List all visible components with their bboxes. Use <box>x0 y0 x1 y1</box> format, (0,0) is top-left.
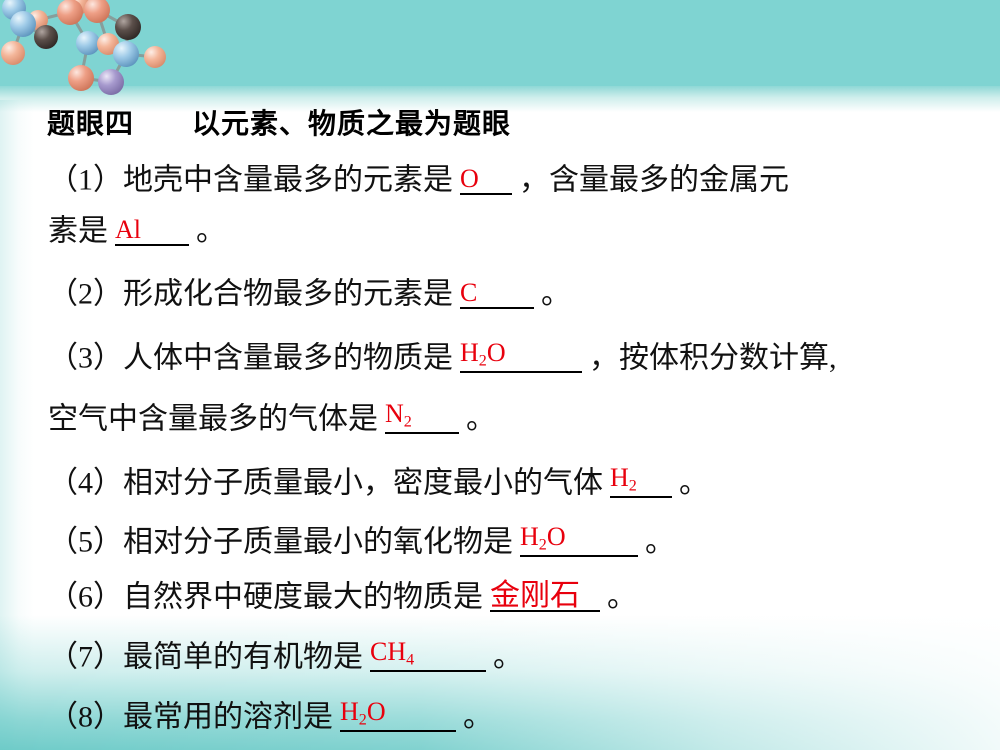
question-text: ，含量最多的金属元 <box>519 164 789 197</box>
question-text: 素是 <box>48 215 108 248</box>
question-text: 。 <box>463 701 493 734</box>
question-text: （2）形成化合物最多的元素是 <box>48 278 453 311</box>
answer-blank[interactable]: O <box>460 163 512 196</box>
question-line: （2）形成化合物最多的元素是C。 <box>48 277 571 310</box>
answer-value: Al <box>115 217 141 243</box>
question-line: （5）相对分子质量最小的氧化物是H2O。 <box>48 525 675 558</box>
answer-value: O <box>460 166 479 192</box>
answer-blank[interactable]: Al <box>115 214 189 247</box>
question-text: （7）最简单的有机物是 <box>48 641 363 674</box>
answer-blank[interactable]: H2 <box>610 466 672 499</box>
question-line: （3）人体中含量最多的物质是H2O，按体积分数计算, <box>48 341 837 374</box>
answer-blank[interactable]: H2O <box>460 341 582 374</box>
question-text: （6）自然界中硬度最大的物质是 <box>48 581 483 614</box>
slide-canvas: 题眼四 以元素、物质之最为题眼 （1）地壳中含量最多的元素是O，含量最多的金属元… <box>0 0 1000 750</box>
question-text: （8）最常用的溶剂是 <box>48 701 333 734</box>
question-text: （4）相对分子质量最小，密度最小的气体 <box>48 467 603 500</box>
question-text: 。 <box>196 215 226 248</box>
question-line: （8）最常用的溶剂是H2O。 <box>48 700 493 733</box>
answer-blank[interactable]: CH4 <box>370 640 486 673</box>
question-text: （3）人体中含量最多的物质是 <box>48 342 453 375</box>
question-text: 。 <box>493 641 523 674</box>
question-text: （1）地壳中含量最多的元素是 <box>48 164 453 197</box>
question-line: （4）相对分子质量最小，密度最小的气体H2。 <box>48 466 709 499</box>
question-line: 素是Al。 <box>48 214 226 247</box>
question-text: 。 <box>645 526 675 559</box>
answer-value: C <box>460 280 477 306</box>
answer-value: N2 <box>385 401 412 431</box>
answer-value: H2O <box>460 340 506 370</box>
question-text: 。 <box>679 467 709 500</box>
answer-value: CH4 <box>370 639 414 669</box>
question-line: 空气中含量最多的气体是N2。 <box>48 402 496 435</box>
question-text: ，按体积分数计算, <box>589 342 837 375</box>
answer-value: 金刚石 <box>490 581 580 611</box>
question-text: 。 <box>607 581 637 614</box>
page-title: 题眼四 以元素、物质之最为题眼 <box>47 102 511 142</box>
answer-blank[interactable]: N2 <box>385 402 459 435</box>
answer-blank[interactable]: C <box>460 277 534 310</box>
answer-value: H2O <box>520 524 566 554</box>
slide-content: 题眼四 以元素、物质之最为题眼 （1）地壳中含量最多的元素是O，含量最多的金属元… <box>0 0 1000 750</box>
question-line: （7）最简单的有机物是CH4。 <box>48 640 523 673</box>
answer-blank[interactable]: H2O <box>520 525 638 558</box>
question-text: （5）相对分子质量最小的氧化物是 <box>48 526 513 559</box>
answer-value: H2O <box>340 699 386 729</box>
answer-value: H2 <box>610 465 637 495</box>
answer-blank[interactable]: H2O <box>340 700 456 733</box>
question-text: 。 <box>466 403 496 436</box>
question-line: （6）自然界中硬度最大的物质是金刚石。 <box>48 580 637 613</box>
answer-blank[interactable]: 金刚石 <box>490 580 600 613</box>
question-text: 。 <box>541 278 571 311</box>
question-text: 空气中含量最多的气体是 <box>48 403 378 436</box>
question-line: （1）地壳中含量最多的元素是O，含量最多的金属元 <box>48 163 789 196</box>
